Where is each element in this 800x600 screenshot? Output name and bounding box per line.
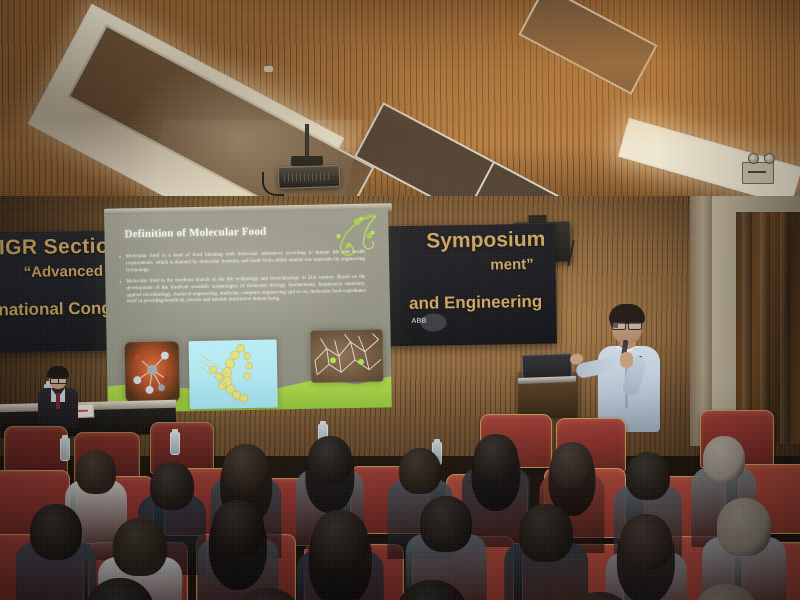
- ceiling: [0, 0, 800, 212]
- security-alarm-box: [742, 162, 774, 184]
- audience-member-head: [113, 518, 167, 576]
- slide-bullet-text-2: Molecular food is the forefront branch o…: [126, 273, 366, 305]
- audience-member-head: [399, 448, 441, 494]
- projector-mount-bracket: [291, 156, 323, 166]
- banner-line-1-right: Symposium: [426, 228, 545, 254]
- slide-bullet-list: ▪ Molecular food is a kind of food blend…: [119, 249, 366, 310]
- audience-member-head: [312, 510, 368, 570]
- audience-member: [85, 578, 155, 600]
- audience-member-head: [551, 442, 593, 488]
- presenter-right-hand: [620, 352, 633, 368]
- projector-vents: [284, 172, 332, 182]
- audience-member: [565, 592, 635, 600]
- audience-member-head: [30, 504, 82, 560]
- audience-member-head: [212, 500, 264, 556]
- audience-member-head: [395, 580, 469, 600]
- audience-member: [395, 580, 469, 600]
- ceiling-projector[interactable]: [278, 165, 341, 189]
- audience-member: [474, 434, 518, 552]
- audience-member-head: [308, 436, 352, 484]
- audience-member-head: [620, 514, 672, 570]
- conference-hall-photo: CIGR Section Symposium “Advanced ment” e…: [0, 0, 800, 600]
- presenter-glasses-icon: [612, 322, 642, 328]
- chairman-glasses-icon: [50, 377, 67, 382]
- presenter-hair: [609, 304, 645, 324]
- projector-mount-pole: [305, 124, 309, 158]
- water-bottle[interactable]: [60, 438, 70, 461]
- audience-member-head: [565, 592, 635, 600]
- audience-member-head: [85, 578, 155, 600]
- water-bottle[interactable]: [170, 432, 180, 455]
- alarm-strobe-icon: [764, 153, 775, 164]
- alarm-siren-icon: [748, 153, 759, 164]
- audience-member-head: [626, 452, 670, 500]
- banner-line-2-right: ment”: [490, 256, 534, 274]
- banner-line-3-left: ernational Cong: [0, 299, 112, 321]
- audience-member-head: [420, 496, 472, 552]
- audience-member-head: [232, 588, 304, 600]
- bullet-marker-icon: ▪: [119, 278, 121, 306]
- audience-member: [212, 500, 264, 600]
- audience-member-head: [519, 504, 573, 562]
- audience-member-head: [150, 462, 194, 510]
- audience-member-head: [692, 584, 760, 600]
- slide-bullet-item: ▪ Molecular food is a kind of food blend…: [119, 249, 365, 274]
- audience-area: [0, 392, 800, 600]
- slide-bullet-text-1: Molecular food is a kind of food blendin…: [126, 249, 365, 274]
- bullet-marker-icon: ▪: [119, 253, 121, 274]
- audience-member-head: [703, 436, 745, 482]
- banner-line-2-left: “Advanced: [24, 263, 103, 281]
- banner-line-3-right: and Engineering: [409, 292, 542, 314]
- audience-member-head: [76, 450, 116, 494]
- slide-bullet-item: ▪ Molecular food is the forefront branch…: [119, 273, 365, 305]
- audience-member-head: [223, 444, 269, 494]
- speaker-bracket: [529, 215, 547, 223]
- audience-member: [692, 584, 760, 600]
- audience-member-head: [717, 498, 771, 556]
- ceiling-warm-light: [0, 0, 800, 212]
- presentation-slide: Definition of Molecular Food ▪ Molecular…: [104, 209, 392, 412]
- audience-member-head: [474, 434, 518, 482]
- network-structure-image: [310, 329, 383, 382]
- audience-member: [30, 504, 82, 600]
- audience-member: [232, 588, 304, 600]
- audience-member: [620, 514, 672, 600]
- sponsor-logo-text: ABB: [411, 318, 426, 325]
- audience-member: [312, 510, 368, 600]
- audience-member: [519, 504, 573, 600]
- projection-screen: Definition of Molecular Food ▪ Molecular…: [104, 209, 392, 412]
